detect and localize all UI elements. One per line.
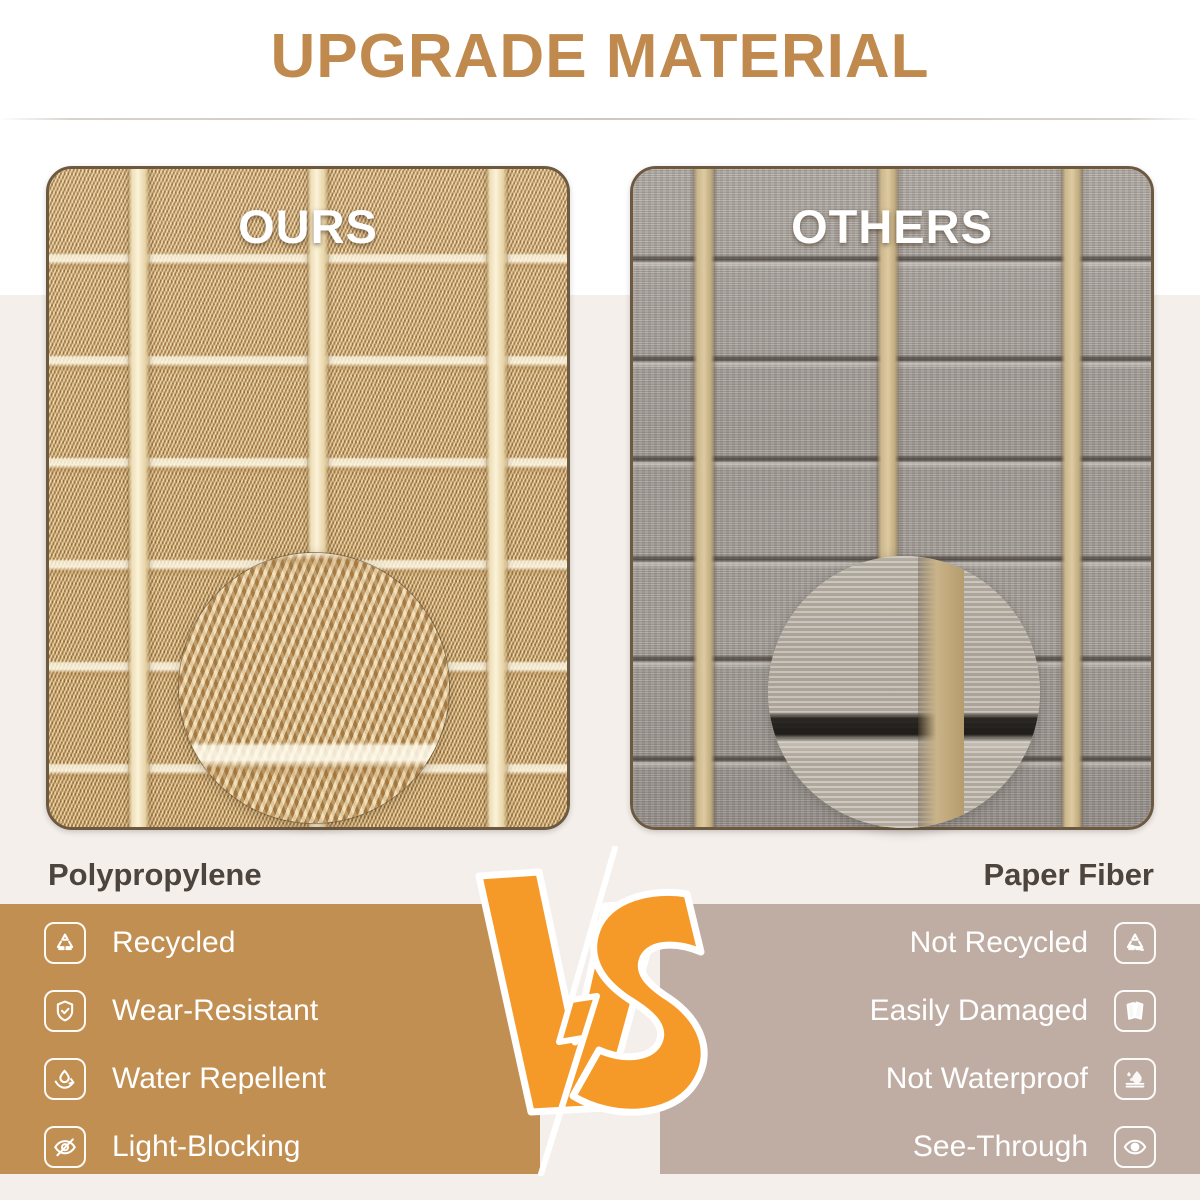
feature-row-recycled: Recycled xyxy=(44,909,235,976)
shield-check-icon xyxy=(44,990,86,1032)
weave-post xyxy=(693,166,715,830)
feature-row-not-waterproof: Not Waterproof xyxy=(886,1045,1156,1112)
ours-material-label: Polypropylene xyxy=(48,846,262,904)
ours-badge: OURS xyxy=(49,199,567,254)
ours-magnifier-circle xyxy=(178,552,450,824)
eye-icon xyxy=(1114,1126,1156,1168)
no-recycle-icon xyxy=(1114,922,1156,964)
weave-post xyxy=(1061,166,1083,830)
page-title: UPGRADE MATERIAL xyxy=(0,26,1200,88)
recycle-icon xyxy=(44,922,86,964)
feature-label: Water Repellent xyxy=(112,1062,326,1096)
feature-label: Easily Damaged xyxy=(870,994,1088,1028)
feature-label: Recycled xyxy=(112,926,235,960)
weave-post xyxy=(486,166,508,830)
vs-badge: VS xyxy=(455,846,745,1176)
feature-label: Not Waterproof xyxy=(886,1062,1088,1096)
eye-slash-icon xyxy=(44,1126,86,1168)
others-material-label: Paper Fiber xyxy=(983,846,1154,904)
feature-label: Wear-Resistant xyxy=(112,994,318,1028)
feature-label: Light-Blocking xyxy=(112,1130,300,1164)
water-repellent-icon xyxy=(44,1058,86,1100)
band-footer-strip xyxy=(0,1174,1200,1200)
feature-row-wear-resistant: Wear-Resistant xyxy=(44,977,318,1044)
magnified-torn-paper-detail xyxy=(768,556,1040,828)
header: UPGRADE MATERIAL xyxy=(0,26,1200,88)
feature-label: See-Through xyxy=(913,1130,1088,1164)
torn-paper-icon xyxy=(1114,990,1156,1032)
magnified-post xyxy=(918,556,964,828)
others-badge: OTHERS xyxy=(633,199,1151,254)
feature-row-light-blocking: Light-Blocking xyxy=(44,1113,300,1180)
header-divider xyxy=(0,118,1200,120)
magnified-weave-detail xyxy=(178,552,450,824)
feature-row-not-recycled: Not Recycled xyxy=(910,909,1156,976)
feature-row-easily-damaged: Easily Damaged xyxy=(870,977,1156,1044)
weave-post xyxy=(128,166,150,830)
feature-label: Not Recycled xyxy=(910,926,1088,960)
others-magnifier-circle xyxy=(768,556,1040,828)
feature-row-water-repellent: Water Repellent xyxy=(44,1045,326,1112)
feature-row-see-through: See-Through xyxy=(913,1113,1156,1180)
infographic-root: UPGRADE MATERIAL OURS OTHERS Polypropyle… xyxy=(0,0,1200,1200)
water-absorb-icon xyxy=(1114,1058,1156,1100)
